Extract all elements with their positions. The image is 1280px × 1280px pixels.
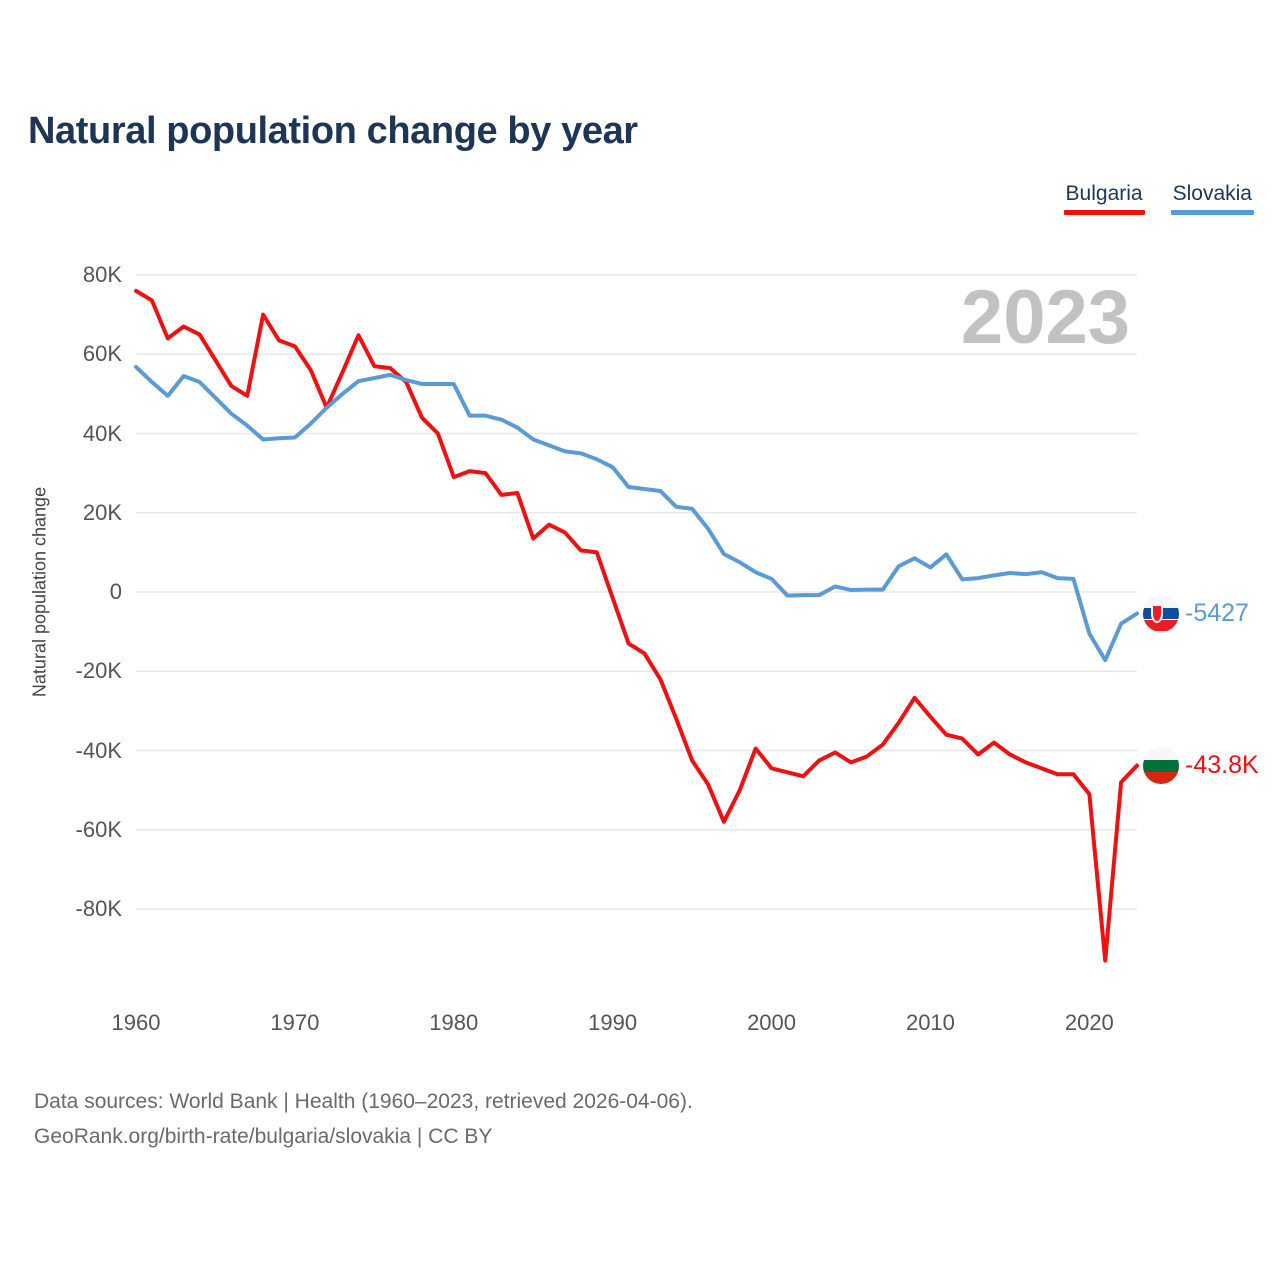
x-tick-label: 1980 [429,1010,478,1036]
y-tick-label: -80K [0,896,122,922]
end-value-slovakia: -5427 [1185,599,1249,628]
x-tick-label: 1960 [112,1010,161,1036]
y-tick-label: -20K [0,658,122,684]
end-marker-slovakia[interactable]: -5427 [1143,596,1249,632]
chart-page: Natural population change by year Bulgar… [0,0,1280,1280]
footer-attribution: GeoRank.org/birth-rate/bulgaria/slovakia… [34,1120,693,1155]
y-tick-label: 20K [0,500,122,526]
end-value-bulgaria: -43.8K [1185,751,1259,780]
y-tick-label: 0 [0,579,122,605]
y-tick-label: -60K [0,817,122,843]
chart-footer: Data sources: World Bank | Health (1960–… [34,1085,693,1154]
series-line-bulgaria[interactable] [136,291,1137,961]
series-line-slovakia[interactable] [136,367,1137,660]
x-tick-label: 1970 [270,1010,319,1036]
end-marker-bulgaria[interactable]: -43.8K [1143,748,1259,784]
x-tick-label: 2020 [1065,1010,1114,1036]
x-tick-label: 1990 [588,1010,637,1036]
footer-data-sources: Data sources: World Bank | Health (1960–… [34,1085,693,1120]
y-tick-label: 40K [0,421,122,447]
x-tick-label: 2000 [747,1010,796,1036]
y-tick-label: -40K [0,738,122,764]
x-tick-label: 2010 [906,1010,955,1036]
slovakia-flag [1143,596,1179,632]
y-tick-label: 60K [0,341,122,367]
y-tick-label: 80K [0,262,122,288]
bulgaria-flag [1143,748,1179,784]
